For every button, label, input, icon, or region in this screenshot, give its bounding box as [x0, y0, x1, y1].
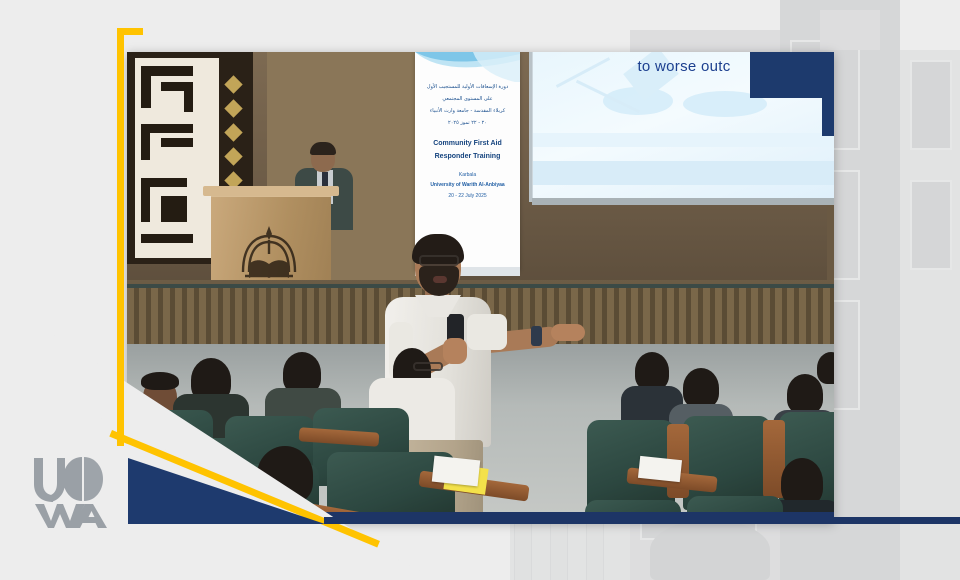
- instructor-left-hand: [443, 338, 467, 364]
- yellow-frame-vertical: [117, 28, 124, 446]
- banner-arabic-line4: ٢٠ - ٢٢ تموز ٢٠٢٥: [415, 120, 520, 127]
- attendee-head: [787, 374, 823, 414]
- banner-arabic-line2: على المستوى المجتمعي: [415, 96, 520, 103]
- instructor-glasses-icon: [419, 255, 459, 266]
- event-photo: 2017 دورة الإسعافات الأولية للمستجيب الأ…: [127, 52, 834, 522]
- navy-bottom-rule: [324, 517, 960, 524]
- attendee-glasses-icon: [413, 362, 443, 371]
- handout-paper: [432, 456, 480, 487]
- instructor-right-sleeve: [467, 314, 507, 350]
- attendee-head: [817, 352, 834, 384]
- uowa-logo: [30, 452, 108, 528]
- attendee-head: [635, 352, 669, 390]
- banner-dates: 20 - 22 July 2025: [415, 193, 520, 199]
- banner-university: University of Warith Al-Anbiyaa: [415, 182, 520, 188]
- banner-arabic-line3: كربلاء المقدسة - جامعة وارث الأنبياء: [415, 108, 520, 115]
- instructor-wristwatch: [531, 326, 542, 346]
- poster-canvas: 2017 دورة الإسعافات الأولية للمستجيب الأ…: [0, 0, 960, 580]
- seated-official-hair: [310, 142, 336, 155]
- attendee-head: [781, 458, 823, 506]
- banner-title-line2: Responder Training: [415, 153, 520, 160]
- podium-top: [203, 186, 339, 196]
- banner-arabic-line1: دورة الإسعافات الأولية للمستجيب الأول: [415, 84, 520, 91]
- handout-paper: [638, 456, 682, 482]
- instructor-pointing-hand: [551, 324, 585, 341]
- attendee-head: [683, 368, 719, 408]
- banner-city: Karbala: [415, 172, 520, 178]
- banner-title-line1: Community First Aid: [415, 140, 520, 147]
- instructor-mouth: [433, 276, 447, 283]
- projector-screen-shadow: [532, 198, 834, 205]
- attendee-hair: [141, 372, 179, 390]
